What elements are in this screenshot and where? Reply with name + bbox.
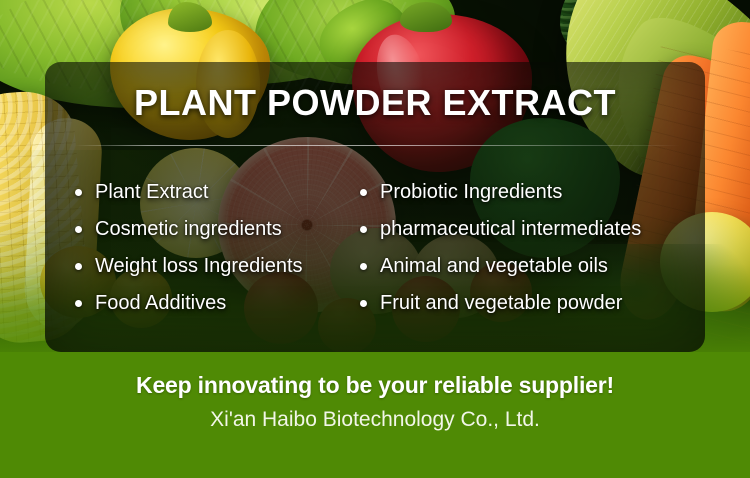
list-item-label: pharmaceutical intermediates [380, 218, 641, 241]
list-item: Probiotic Ingredients [360, 174, 705, 211]
bullet-dot-icon [75, 263, 82, 270]
list-item-label: Food Additives [95, 292, 226, 315]
bullet-dot-icon [360, 300, 367, 307]
list-item-label: Plant Extract [95, 181, 208, 204]
product-list-right-column: Probiotic Ingredients pharmaceutical int… [335, 174, 705, 322]
footer-bar: Keep innovating to be your reliable supp… [0, 352, 750, 478]
company-name: Xi'an Haibo Biotechnology Co., Ltd. [0, 408, 750, 432]
list-item-label: Fruit and vegetable powder [380, 292, 622, 315]
list-item: Food Additives [75, 285, 335, 322]
footer-tagline: Keep innovating to be your reliable supp… [0, 372, 750, 399]
bullet-dot-icon [360, 189, 367, 196]
bullet-dot-icon [75, 226, 82, 233]
list-item: Weight loss Ingredients [75, 248, 335, 285]
list-item: Cosmetic ingredients [75, 211, 335, 248]
product-list-left-column: Plant Extract Cosmetic ingredients Weigh… [45, 174, 335, 322]
list-item: pharmaceutical intermediates [360, 211, 705, 248]
title-divider [75, 145, 680, 146]
bullet-dot-icon [360, 263, 367, 270]
list-item: Plant Extract [75, 174, 335, 211]
list-item-label: Probiotic Ingredients [380, 181, 562, 204]
content-panel: PLANT POWDER EXTRACT Plant Extract Cosme… [45, 62, 705, 352]
plant-powder-extract-banner: PLANT POWDER EXTRACT Plant Extract Cosme… [0, 0, 750, 478]
list-item-label: Cosmetic ingredients [95, 218, 282, 241]
bullet-dot-icon [360, 226, 367, 233]
bullet-dot-icon [75, 189, 82, 196]
list-item: Fruit and vegetable powder [360, 285, 705, 322]
list-item: Animal and vegetable oils [360, 248, 705, 285]
list-item-label: Weight loss Ingredients [95, 255, 303, 278]
list-item-label: Animal and vegetable oils [380, 255, 608, 278]
bullet-dot-icon [75, 300, 82, 307]
product-list: Plant Extract Cosmetic ingredients Weigh… [45, 174, 705, 322]
page-title: PLANT POWDER EXTRACT [45, 82, 705, 124]
